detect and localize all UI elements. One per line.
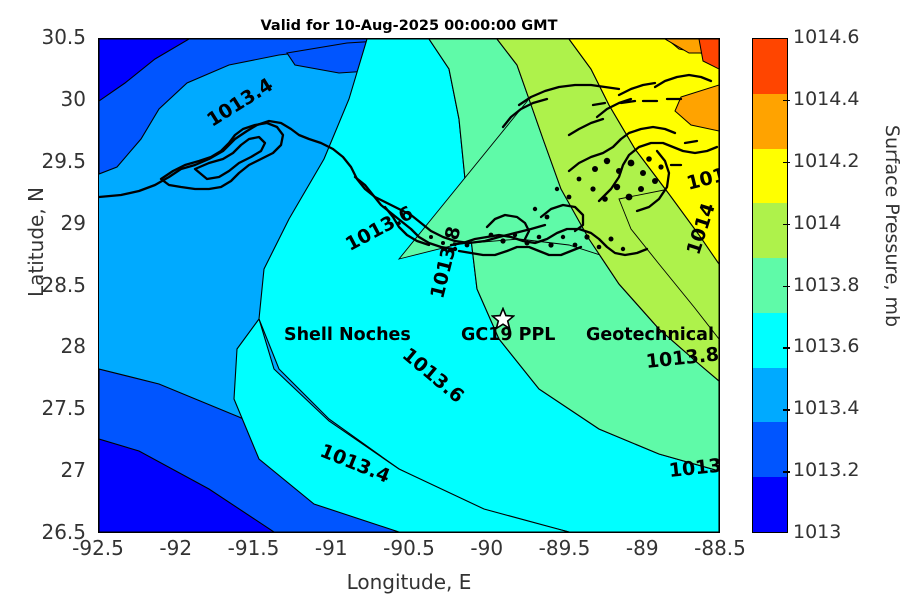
site-label-geotechnical[interactable]: Geotechnical xyxy=(586,325,714,345)
y-tick-27: 27 xyxy=(0,460,86,480)
colorbar-band-7 xyxy=(753,422,787,477)
colorbar-tick-1013: 1013 xyxy=(793,523,841,542)
colorbar-band-3 xyxy=(753,203,787,258)
colorbar-notch-5 xyxy=(783,347,790,348)
x-axis-label: Longitude, E xyxy=(98,570,720,594)
colorbar-tick-1013.6: 1013.6 xyxy=(793,337,859,356)
colorbar-band-6 xyxy=(753,368,787,423)
colorbar-band-8 xyxy=(753,477,787,532)
site-label-shell-noches[interactable]: Shell Noches xyxy=(284,325,411,345)
colorbar-tick-1014.6: 1014.6 xyxy=(793,28,859,47)
colorbar-tick-1013.2: 1013.2 xyxy=(793,461,859,480)
contour-field xyxy=(99,39,719,532)
colorbar-band-4 xyxy=(753,258,787,313)
colorbar-notch-3 xyxy=(783,224,790,225)
colorbar-label: Surface Pressure, mb xyxy=(881,86,900,366)
station-star-icon[interactable] xyxy=(491,307,515,331)
colorbar-tick-1014.4: 1014.4 xyxy=(793,90,859,109)
y-axis-label: Latitude, N xyxy=(24,142,48,342)
colorbar-notch-7 xyxy=(783,471,790,472)
contour-plot-area[interactable]: 1013.41013.61013.81014.210141013.61013.8… xyxy=(98,38,720,533)
y-tick-27.5: 27.5 xyxy=(0,398,86,418)
figure-root: Valid for 10-Aug-2025 00:00:00 GMT xyxy=(0,0,900,600)
colorbar-tick-1013.8: 1013.8 xyxy=(793,276,859,295)
colorbar-notch-1 xyxy=(783,100,790,101)
colorbar-band-1 xyxy=(753,94,787,149)
colorbar-notch-2 xyxy=(783,162,790,163)
y-tick-30: 30 xyxy=(0,89,86,109)
colorbar-tick-1014.2: 1014.2 xyxy=(793,152,859,171)
colorbar-tick-1013.4: 1013.4 xyxy=(793,399,859,418)
x-tick--88.5: -88.5 xyxy=(660,538,780,558)
figure-title: Valid for 10-Aug-2025 00:00:00 GMT xyxy=(98,18,720,34)
colorbar-band-0 xyxy=(753,39,787,94)
colorbar-tick-1014: 1014 xyxy=(793,214,841,233)
colorbar-band-5 xyxy=(753,313,787,368)
colorbar-notch-6 xyxy=(783,409,790,410)
colorbar-band-2 xyxy=(753,149,787,204)
colorbar-notch-4 xyxy=(783,286,790,287)
y-tick-30.5: 30.5 xyxy=(0,27,86,47)
